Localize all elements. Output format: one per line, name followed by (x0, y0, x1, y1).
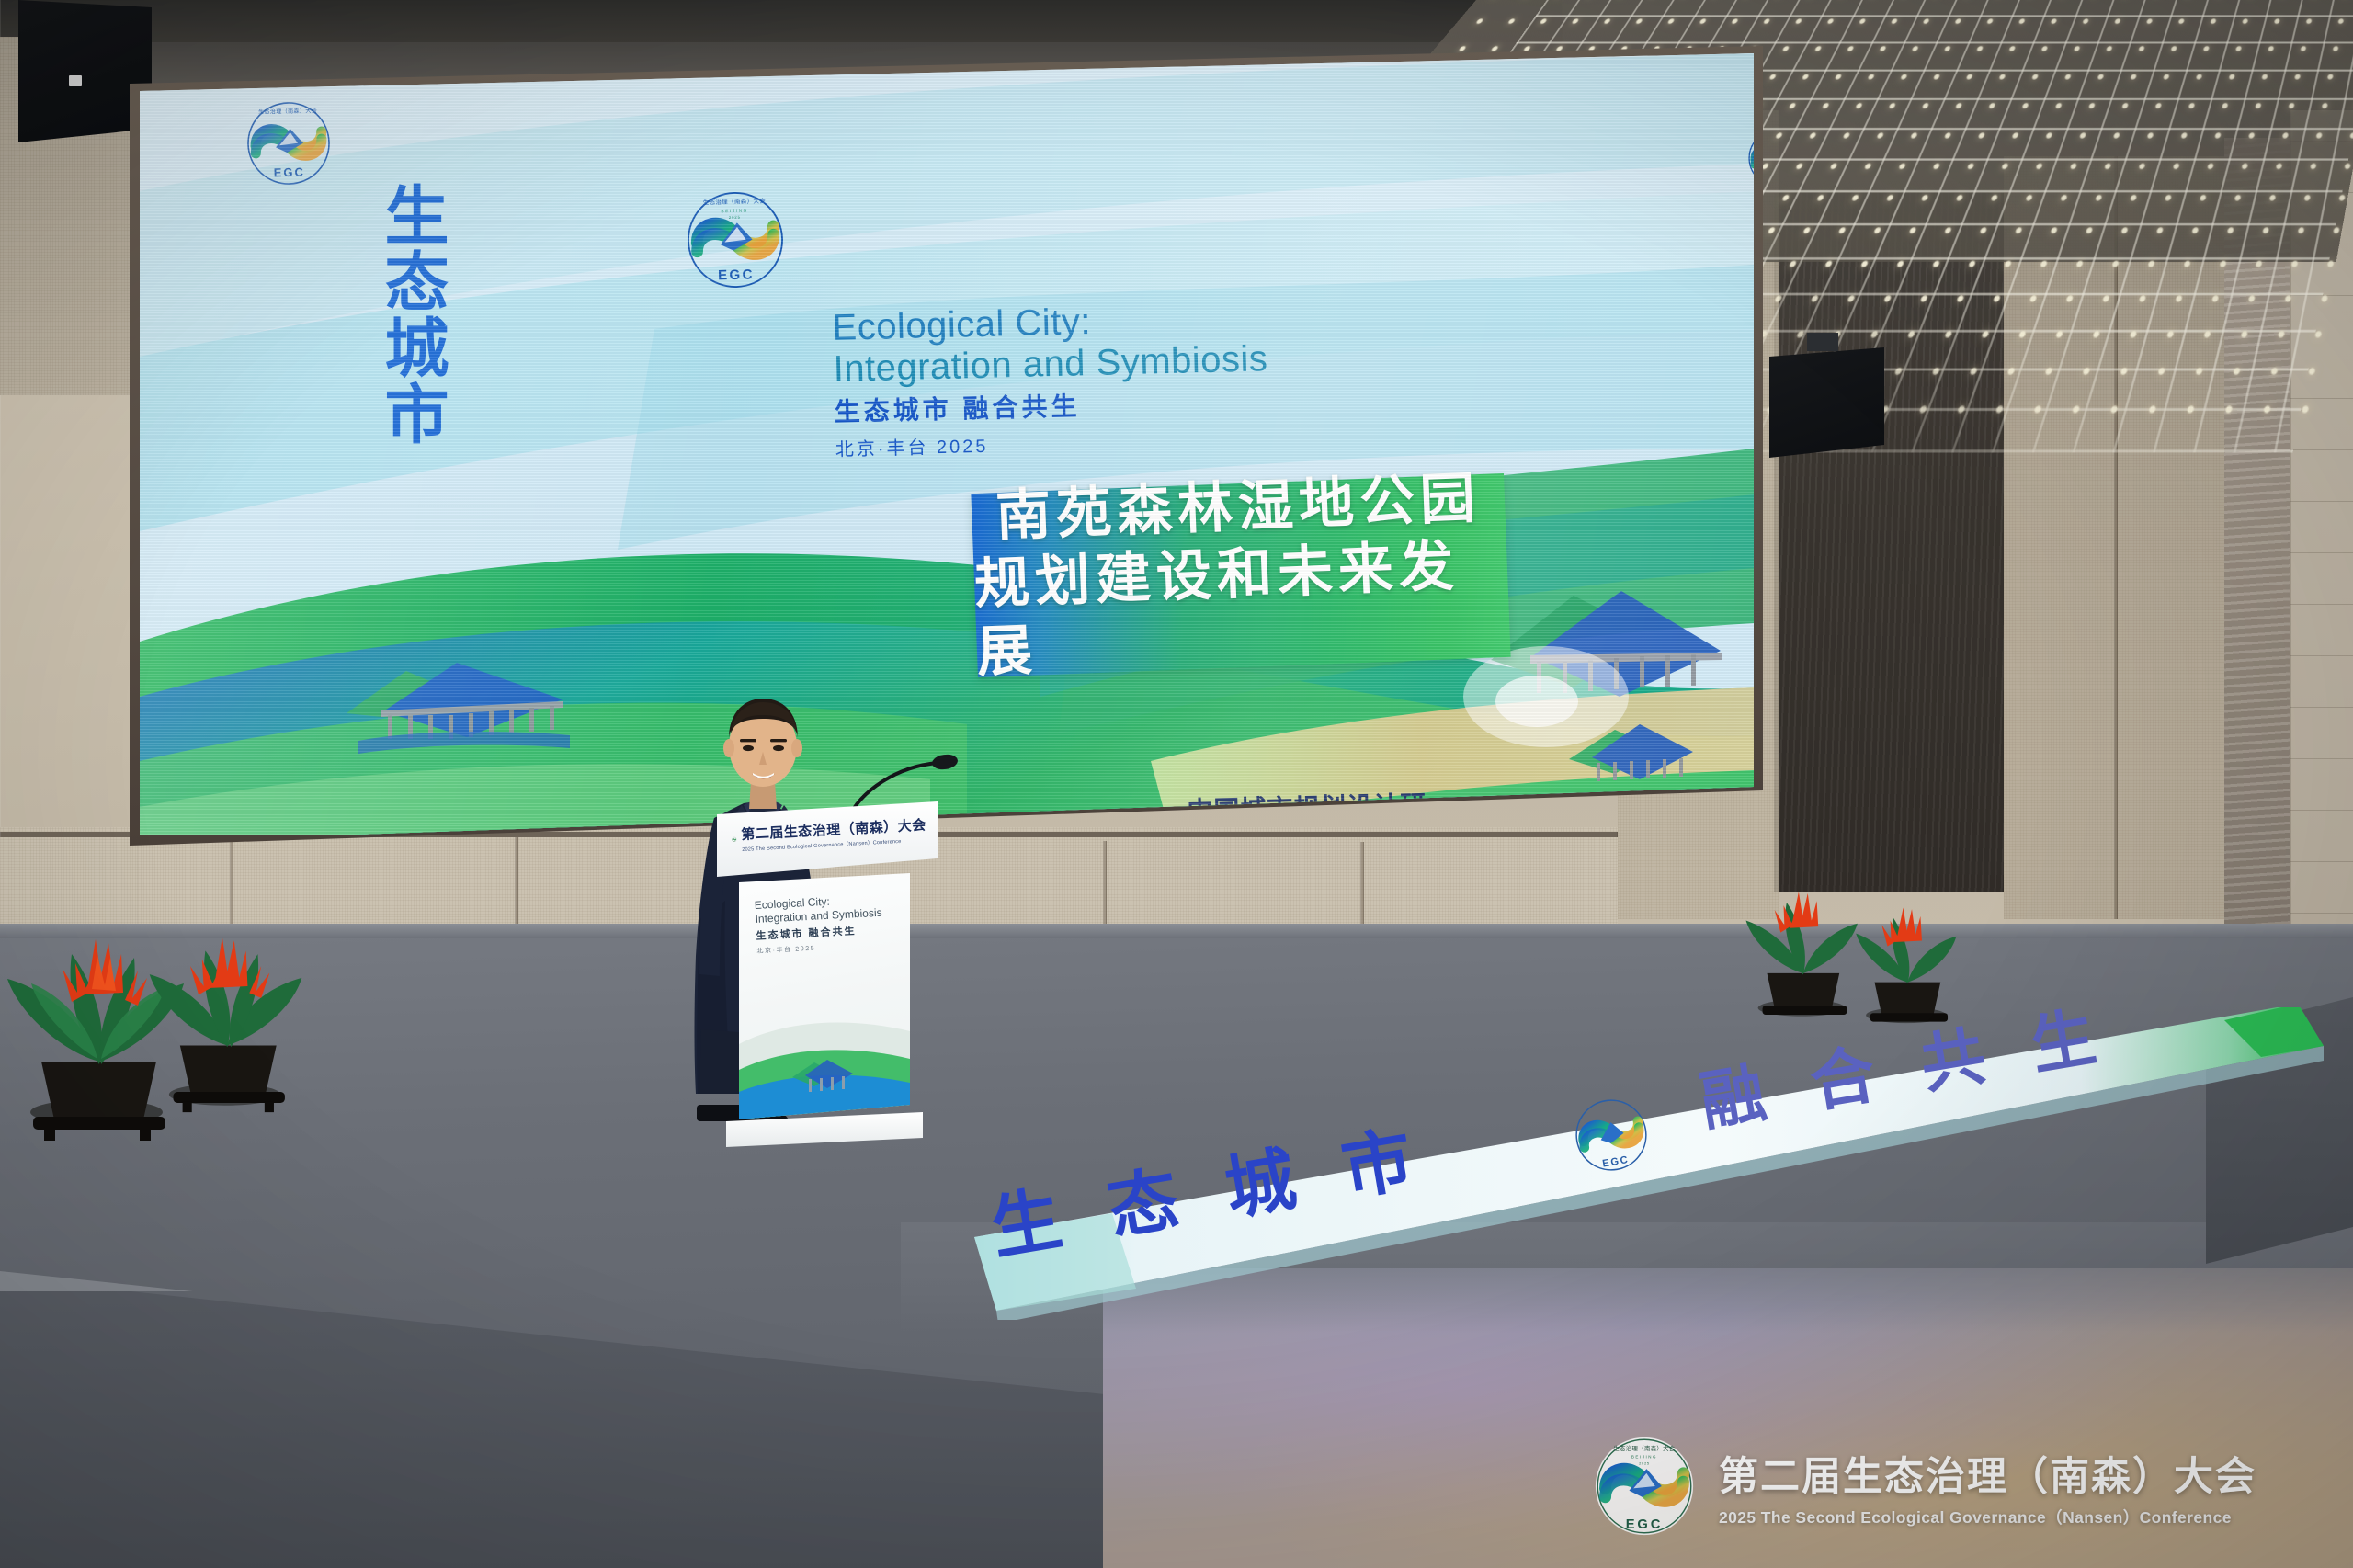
wall-speaker-right (1769, 347, 1884, 458)
led-screen: EGC 生态治理（南森）大会 生态城市 EGC 生态治理（南森）大会 (140, 53, 1754, 835)
egc-logo-screen-left: EGC 生态治理（南森）大会 (242, 97, 336, 191)
screen-left-vertical-text: 生态城市 (369, 182, 471, 447)
conference-watermark: EGC 生态治理（南森）大会 BEIJING 2025 第二届生态治理（南森）大… (1590, 1432, 2256, 1540)
title-ribbon-line2: 规划建设和未来发展 (973, 531, 1511, 687)
svg-text:2025: 2025 (1639, 1460, 1650, 1465)
svg-text:生态治理（南森）大会: 生态治理（南森）大会 (258, 107, 317, 116)
svg-text:BEIJING: BEIJING (1631, 1454, 1657, 1459)
potted-plants-left (0, 855, 349, 1149)
egc-logo-watermark: EGC 生态治理（南森）大会 BEIJING 2025 (1590, 1432, 1699, 1540)
svg-text:BEIJING: BEIJING (721, 208, 747, 213)
screen-headline-block: Ecological City: Integration and Symbios… (832, 295, 1350, 460)
wall-speaker-right-bracket (1807, 333, 1838, 351)
podium-header-panel: EGC 第二届生态治理（南森）大会 2025 The Second Ecolog… (717, 801, 938, 877)
wall-speaker-left-badge (69, 75, 82, 86)
egc-logo-podium: EGC (731, 825, 737, 853)
svg-text:EGC: EGC (274, 165, 306, 180)
stage-floor-banner: 生 态 城 市 EGC 融 合 共 生 (974, 1007, 2325, 1311)
egc-logo-screen-headline: EGC 生态治理（南森）大会 BEIJING 2025 (681, 186, 790, 295)
svg-text:生态治理（南森）大会: 生态治理（南森）大会 (1613, 1444, 1675, 1452)
svg-text:EGC: EGC (718, 267, 755, 283)
watermark-title-en: 2025 The Second Ecological Governance（Na… (1719, 1506, 2256, 1528)
svg-text:生态治理（南森）大会: 生态治理（南森）大会 (703, 197, 767, 207)
lectern-podium: EGC 第二届生态治理（南森）大会 2025 The Second Ecolog… (717, 801, 938, 1187)
watermark-title-cn: 第二届生态治理（南森）大会 (1719, 1445, 2256, 1502)
presentation-title-ribbon: 南苑森林湿地公园 规划建设和未来发展 (971, 473, 1510, 677)
svg-text:EGC: EGC (1626, 1517, 1663, 1532)
svg-text:2025: 2025 (729, 215, 741, 220)
ceiling-dark-band (0, 0, 1563, 42)
egc-logo-floor-banner: EGC (1565, 1089, 1656, 1180)
podium-body-panel: Ecological City: Integration and Symbios… (739, 873, 910, 1119)
conference-stage-photo: EGC 生态治理（南森）大会 生态城市 EGC 生态治理（南森）大会 (0, 0, 2353, 1568)
egc-logo-screen-right: EGC (1745, 126, 1754, 189)
